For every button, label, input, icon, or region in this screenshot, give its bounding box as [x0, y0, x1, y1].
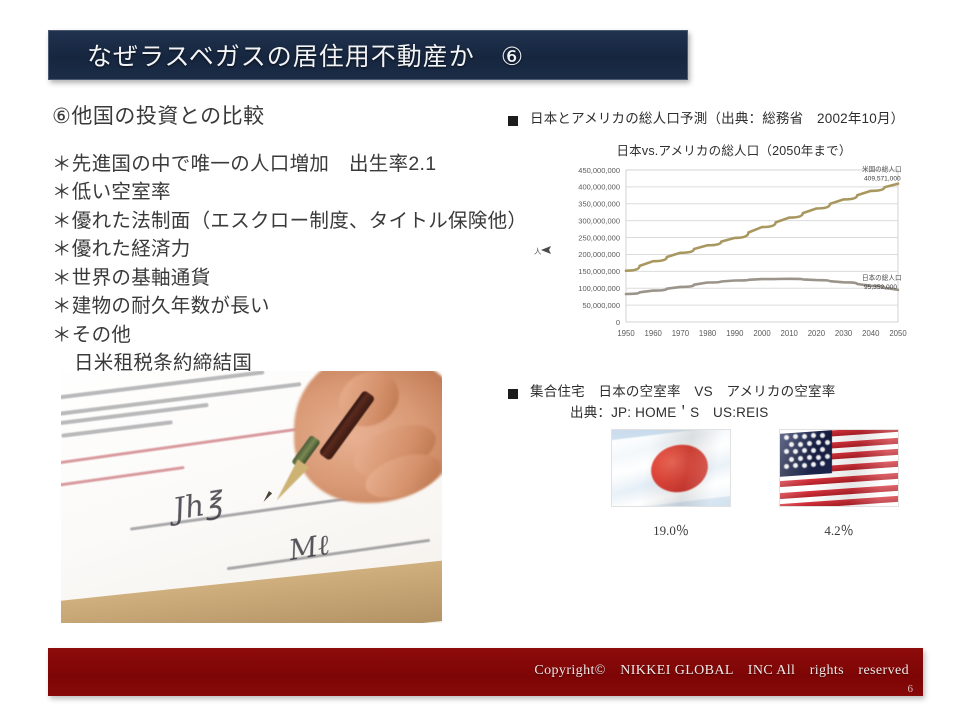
star-icon	[825, 440, 830, 445]
japan-flag	[612, 430, 730, 506]
star-icon	[816, 455, 821, 460]
vacancy-section-heading-row: 集合住宅 日本の空室率 VS アメリカの空室率 出典：JP: HOME＇S US…	[508, 383, 960, 422]
chart-y-axis-label: 人	[534, 247, 542, 256]
chart-title: 日本vs.アメリカの総人口（2050年まで）	[508, 140, 960, 159]
square-bullet-icon	[508, 116, 518, 126]
chart-x-tick-label: 2000	[753, 329, 771, 338]
list-item: ＊建物の耐久年数が長い	[52, 292, 497, 320]
chart-y-tick-labels: 050,000,000100,000,000150,000,000200,000…	[578, 166, 620, 327]
chart-series-lines	[626, 184, 898, 294]
square-bullet-icon	[508, 389, 518, 399]
chart-y-tick-label: 150,000,000	[578, 267, 620, 276]
star-icon	[784, 464, 789, 469]
chart-y-tick-label: 50,000,000	[582, 301, 620, 310]
star-icon	[802, 463, 807, 468]
chart-x-tick-label: 2020	[808, 329, 826, 338]
chart-x-tick-label: 2030	[835, 329, 853, 338]
chart-section-heading-row: 日本とアメリカの総人口予測（出典：総務省 2002年10月）	[508, 110, 960, 128]
chart-x-tick-labels: 1950196019701980199020002010202020302040…	[617, 329, 907, 338]
chart-y-tick-label: 250,000,000	[578, 233, 620, 242]
chart-series-name: 日本の総人口	[862, 273, 902, 282]
star-icon	[825, 454, 830, 459]
vacancy-source: 出典：JP: HOME＇S US:REIS	[570, 404, 960, 422]
chart-y-tick-label: 350,000,000	[578, 200, 620, 209]
star-icon	[811, 462, 816, 467]
star-icon	[789, 442, 794, 447]
chart-series-value: 409,571,000	[864, 176, 901, 183]
contract-signing-photo: Jh℥ Mℓ	[61, 371, 442, 623]
chart-x-tick-label: 1960	[645, 329, 663, 338]
list-item: ＊先進国の中で唯一の人口増加 出生率2.1	[52, 150, 497, 178]
y-axis-arrow-icon	[541, 246, 551, 254]
chart-y-tick-label: 0	[616, 318, 620, 327]
star-icon	[820, 447, 825, 452]
star-icon	[798, 442, 803, 447]
page-title: なぜラスベガスの居住用不動産か ⑥	[87, 37, 524, 73]
japan-vacancy-percent: 19.0％	[612, 520, 730, 539]
vacancy-flags-block: 19.0％ 4.2％	[508, 430, 960, 555]
star-icon	[820, 433, 825, 438]
chart-x-tick-label: 1970	[672, 329, 690, 338]
list-item: ＊優れた法制面（エスクロー制度、タイトル保険他）	[52, 207, 497, 235]
star-icon	[802, 434, 807, 439]
star-icon	[807, 455, 812, 460]
slide-canvas: なぜラスベガスの居住用不動産か ⑥ ⑥他国の投資との比較 ＊先進国の中で唯一の人…	[0, 0, 970, 728]
chart-line-usa	[626, 184, 898, 271]
copyright-text: Copyright© NIKKEI GLOBAL INC All rights …	[534, 659, 909, 679]
chart-series-value: 95,352,000	[864, 284, 897, 291]
slide-title-bar: なぜラスベガスの居住用不動産か ⑥	[48, 30, 688, 80]
star-icon	[811, 448, 816, 453]
chart-x-tick-label: 1980	[699, 329, 717, 338]
chart-y-tick-label: 400,000,000	[578, 183, 620, 192]
japan-vacancy-cell: 19.0％	[612, 430, 730, 539]
chart-y-tick-label: 450,000,000	[578, 166, 620, 175]
usa-flag	[780, 430, 898, 506]
chart-x-tick-label: 2050	[889, 329, 907, 338]
star-icon	[784, 435, 789, 440]
population-chart: 日本vs.アメリカの総人口（2050年まで） 050,000,000100,00…	[508, 140, 960, 370]
star-icon	[793, 449, 798, 454]
chart-series-name: 米国の総人口	[862, 165, 902, 174]
chart-x-tick-label: 1990	[726, 329, 744, 338]
usa-vacancy-cell: 4.2％	[780, 430, 898, 539]
chart-plot-wrapper: 050,000,000100,000,000150,000,000200,000…	[508, 162, 960, 370]
list-item: ＊世界の基軸通貨	[52, 264, 497, 292]
chart-svg: 050,000,000100,000,000150,000,000200,000…	[508, 162, 960, 370]
chart-plot-frame	[626, 170, 898, 322]
star-icon	[798, 456, 803, 461]
chart-section-heading: 日本とアメリカの総人口予測（出典：総務省 2002年10月）	[530, 110, 904, 128]
signature-mark: Jh℥	[171, 485, 225, 527]
star-icon	[807, 441, 812, 446]
chart-y-tick-label: 100,000,000	[578, 284, 620, 293]
signature-mark: Mℓ	[287, 528, 332, 568]
section-heading: ⑥他国の投資との比較	[52, 100, 497, 130]
slide-footer-bar: Copyright© NIKKEI GLOBAL INC All rights …	[48, 648, 923, 696]
list-item: ＊優れた経済力	[52, 235, 497, 263]
star-icon	[789, 457, 794, 462]
usa-vacancy-percent: 4.2％	[780, 520, 898, 539]
vacancy-section-heading: 集合住宅 日本の空室率 VS アメリカの空室率	[530, 383, 835, 401]
page-number: 6	[908, 683, 914, 695]
chart-x-tick-label: 2040	[862, 329, 880, 338]
star-icon	[816, 440, 821, 445]
flag-cloth	[780, 430, 898, 506]
left-content-column: ⑥他国の投資との比較 ＊先進国の中で唯一の人口増加 出生率2.1 ＊低い空室率 …	[52, 100, 497, 378]
bullet-list: ＊先進国の中で唯一の人口増加 出生率2.1 ＊低い空室率 ＊優れた法制面（エスク…	[52, 150, 497, 378]
chart-line-japan	[626, 279, 898, 294]
chart-y-tick-label: 300,000,000	[578, 216, 620, 225]
list-item: ＊低い空室率	[52, 178, 497, 206]
chart-x-tick-label: 2010	[781, 329, 799, 338]
list-item: ＊その他	[52, 321, 497, 349]
chart-gridlines	[626, 170, 898, 322]
chart-x-tick-label: 1950	[617, 329, 635, 338]
chart-y-tick-label: 200,000,000	[578, 250, 620, 259]
